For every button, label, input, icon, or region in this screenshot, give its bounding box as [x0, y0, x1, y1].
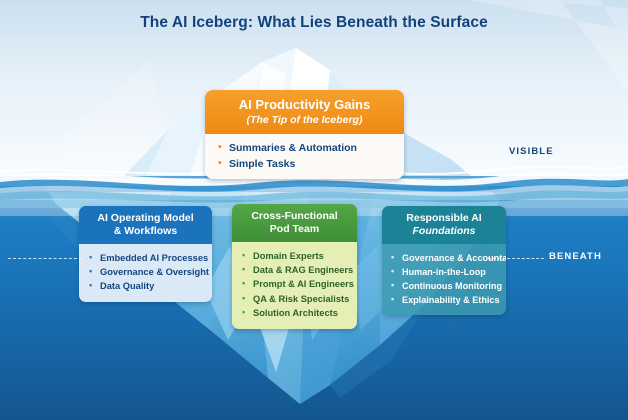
card-pod-bullet-list: Domain Experts Data & RAG Engineers Prom…: [242, 249, 348, 321]
card-ai-productivity-gains: AI Productivity Gains (The Tip of the Ic…: [205, 90, 404, 179]
card-responsible-title-line2: Foundations: [413, 225, 476, 237]
beneath-label: BENEATH: [549, 251, 602, 262]
card-ops-body: Embedded AI Processes Governance & Overs…: [79, 244, 212, 302]
card-pod-body: Domain Experts Data & RAG Engineers Prom…: [232, 242, 357, 329]
list-item: Governance & Accountability: [391, 251, 497, 265]
card-ops-title-line1: AI Operating Model: [97, 212, 193, 224]
title-rest: What Lies Beneath the Surface: [253, 14, 488, 31]
card-responsible-ai-foundations: Responsible AI Foundations Governance & …: [382, 206, 506, 315]
list-item: Summaries & Automation: [218, 140, 394, 156]
card-cross-functional-pod-team: Cross-Functional Pod Team Domain Experts…: [232, 204, 357, 329]
list-item: Prompt & AI Engineers: [242, 277, 348, 291]
visible-label: VISIBLE: [509, 146, 554, 157]
card-ops-bullet-list: Embedded AI Processes Governance & Overs…: [89, 251, 203, 294]
card-tip-body: Summaries & Automation Simple Tasks: [205, 134, 404, 180]
card-tip-subtitle: (The Tip of the Iceberg): [211, 114, 398, 127]
card-pod-header: Cross-Functional Pod Team: [232, 204, 357, 242]
card-responsible-body: Governance & Accountability Human-in-the…: [382, 244, 506, 315]
card-responsible-header: Responsible AI Foundations: [382, 206, 506, 244]
card-tip-header: AI Productivity Gains (The Tip of the Ic…: [205, 90, 404, 134]
list-item: Data & RAG Engineers: [242, 263, 348, 277]
list-item: Data Quality: [89, 279, 203, 293]
beneath-dashed-line-right: [488, 258, 544, 259]
list-item: QA & Risk Specialists: [242, 292, 348, 306]
list-item: Embedded AI Processes: [89, 251, 203, 265]
list-item: Continuous Monitoring: [391, 279, 497, 293]
list-item: Human-in-the-Loop: [391, 265, 497, 279]
page-title: The AI Iceberg: What Lies Beneath the Su…: [0, 14, 628, 32]
list-item: Solution Architects: [242, 306, 348, 320]
iceberg-infographic: The AI Iceberg: What Lies Beneath the Su…: [0, 0, 628, 420]
title-lead: The AI Iceberg:: [140, 14, 253, 31]
list-item: Explainability & Ethics: [391, 293, 497, 307]
card-ops-header: AI Operating Model & Workflows: [79, 206, 212, 244]
card-ops-title-line2: & Workflows: [114, 225, 177, 237]
list-item: Domain Experts: [242, 249, 348, 263]
beneath-dashed-line-left: [8, 258, 82, 259]
card-tip-title: AI Productivity Gains: [239, 97, 370, 112]
card-tip-bullet-list: Summaries & Automation Simple Tasks: [218, 140, 394, 173]
list-item: Simple Tasks: [218, 156, 394, 172]
list-item: Governance & Oversight: [89, 265, 203, 279]
card-responsible-bullet-list: Governance & Accountability Human-in-the…: [391, 251, 497, 307]
card-ai-operating-model: AI Operating Model & Workflows Embedded …: [79, 206, 212, 302]
card-pod-title-line1: Cross-Functional: [251, 210, 337, 222]
card-pod-title-line2: Pod Team: [270, 223, 319, 235]
card-responsible-title-line1: Responsible AI: [406, 212, 481, 224]
